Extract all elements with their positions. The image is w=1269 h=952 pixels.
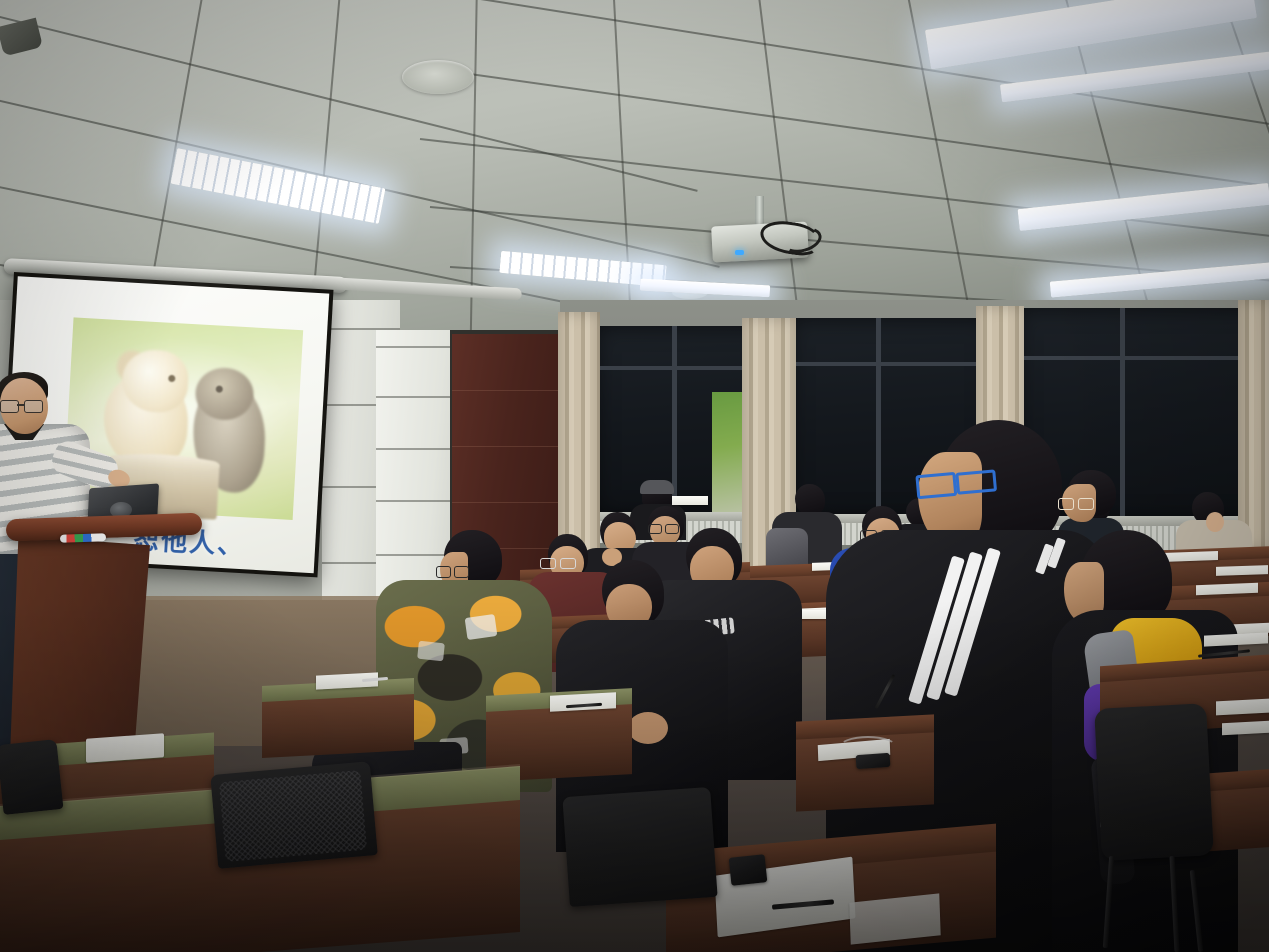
window-mullion [1018,356,1269,360]
desk-paper [1216,565,1268,576]
window-mullion [596,366,766,370]
student-hand [628,712,668,744]
student-glasses-icon [436,566,466,576]
jacket-graphic [417,641,445,662]
smoke-detector-icon [0,18,43,57]
ceiling-speaker-icon [402,60,474,94]
classroom-photo: 恕他人、 [0,0,1269,952]
student-hand [1206,512,1224,532]
chair-mesh-back [219,770,367,862]
podium [10,536,150,766]
student-glasses-icon [540,558,574,567]
desk-paper [1222,721,1269,735]
desk-paper [1216,699,1269,716]
student-glasses-icon [1058,498,1092,508]
desk-cable [838,736,898,760]
desk-paper [672,496,708,505]
desk-front [262,694,414,758]
window-mullion [876,318,881,518]
chair[interactable] [1094,703,1214,861]
podium-control-buttons[interactable] [60,533,106,543]
curtain [1238,300,1269,550]
window-mullion [790,362,990,366]
ceiling-light [1050,262,1269,297]
student-glasses-icon [648,524,678,532]
ceiling-light [1018,183,1269,231]
ceiling-light [1000,51,1269,102]
projector-power-led [735,250,744,255]
student-cap-icon [640,480,674,494]
window-poster [712,392,744,514]
window-mullion [1120,308,1125,520]
presenter-glasses-icon [0,400,44,411]
ceiling-light [171,148,386,224]
chair[interactable] [0,739,63,815]
jacket-graphic [465,614,498,640]
projector-mount [755,196,764,226]
chair[interactable] [562,787,717,907]
desk-phone[interactable] [729,854,768,886]
